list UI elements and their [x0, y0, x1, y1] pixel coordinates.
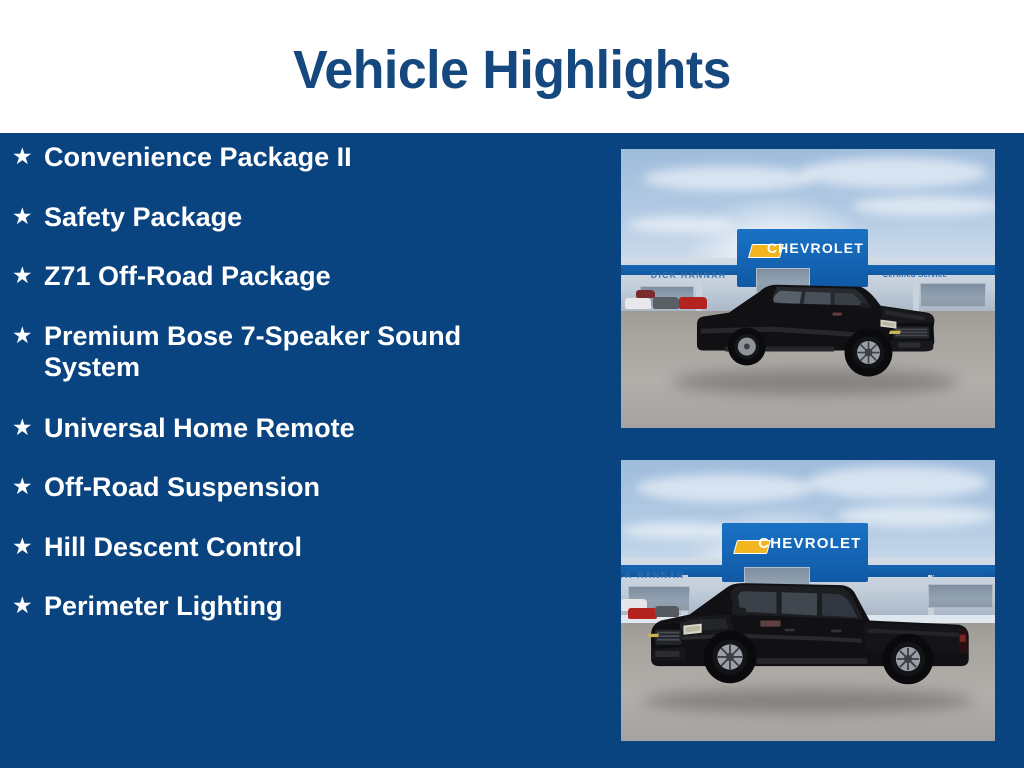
- list-item: ★ Universal Home Remote: [0, 413, 600, 444]
- star-bullet-icon: ★: [12, 472, 44, 502]
- cloud: [628, 216, 733, 233]
- vehicle-highlights-list: ★ Convenience Package II ★ Safety Packag…: [0, 142, 600, 651]
- highlight-label: Z71 Off-Road Package: [44, 261, 554, 292]
- cloud: [808, 466, 988, 500]
- chevrolet-silverado-truck: [685, 272, 954, 389]
- star-bullet-icon: ★: [12, 591, 44, 621]
- cloud: [801, 157, 988, 188]
- lot-car: [636, 290, 655, 298]
- highlight-label: Convenience Package II: [44, 142, 554, 173]
- highlight-label: Perimeter Lighting: [44, 591, 554, 622]
- star-bullet-icon: ★: [12, 413, 44, 443]
- star-bullet-icon: ★: [12, 142, 44, 172]
- vehicle-photo-side-profile: CK HANNAH Certified Serv CHEVROLET: [621, 460, 995, 741]
- cloud: [636, 474, 816, 502]
- list-item: ★ Z71 Off-Road Package: [0, 261, 600, 292]
- star-bullet-icon: ★: [12, 321, 44, 351]
- cloud: [853, 196, 995, 216]
- star-bullet-icon: ★: [12, 261, 44, 291]
- cloud: [621, 522, 733, 539]
- page-title: Vehicle Highlights: [293, 43, 731, 97]
- star-bullet-icon: ★: [12, 202, 44, 232]
- list-item: ★ Perimeter Lighting: [0, 591, 600, 622]
- slide-root: Vehicle Highlights ★ Convenience Package…: [0, 0, 1024, 768]
- highlight-label: Universal Home Remote: [44, 413, 554, 444]
- chevrolet-brand-sign: CHEVROLET: [722, 535, 868, 552]
- cloud: [643, 166, 815, 191]
- highlight-label: Safety Package: [44, 202, 554, 233]
- highlight-label: Off-Road Suspension: [44, 472, 554, 503]
- star-bullet-icon: ★: [12, 532, 44, 562]
- chevrolet-brand-sign: CHEVROLET: [737, 240, 868, 256]
- highlight-label: Premium Bose 7-Speaker Sound System: [44, 321, 554, 383]
- list-item: ★ Safety Package: [0, 202, 600, 233]
- list-item: ★ Hill Descent Control: [0, 532, 600, 563]
- title-band: Vehicle Highlights: [0, 0, 1024, 133]
- highlight-label: Hill Descent Control: [44, 532, 554, 563]
- list-item: ★ Off-Road Suspension: [0, 472, 600, 503]
- list-item: ★ Convenience Package II: [0, 142, 600, 173]
- vehicle-photo-front-three-quarter: DICK HANNAH Certified Service CHEVROLET: [621, 149, 995, 428]
- list-item: ★ Premium Bose 7-Speaker Sound System: [0, 321, 600, 383]
- lot-car: [653, 297, 679, 309]
- lot-car: [625, 298, 651, 309]
- chevrolet-silverado-truck: [636, 572, 984, 698]
